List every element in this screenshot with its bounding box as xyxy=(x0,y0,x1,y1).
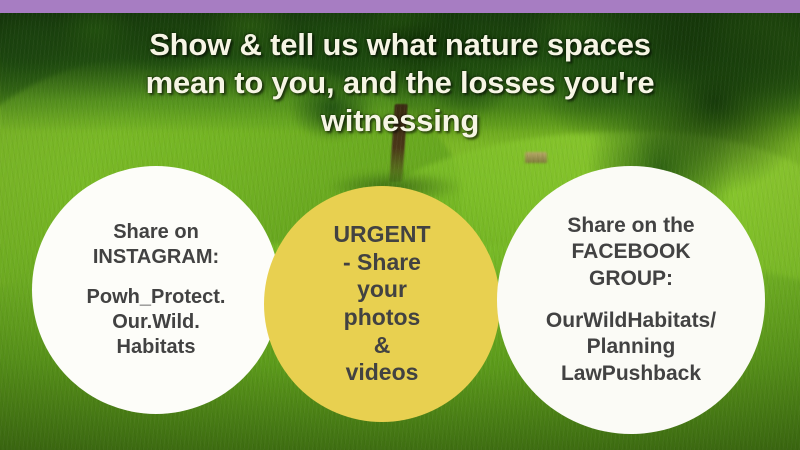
facebook-heading-line-3: GROUP: xyxy=(511,266,751,292)
headline-line-3: witnessing xyxy=(40,102,760,140)
urgent-circle-text: URGENT - Share your photos & videos xyxy=(264,221,500,387)
instagram-circle-text: Share on INSTAGRAM: Powh_Protect. Our.Wi… xyxy=(32,220,280,361)
instagram-handle-line-2: Our.Wild. xyxy=(46,310,266,335)
instagram-handle-line-1: Powh_Protect. xyxy=(46,285,266,310)
urgent-line-5: & xyxy=(282,332,482,360)
instagram-heading-line-1: Share on xyxy=(46,220,266,245)
urgent-line-6: videos xyxy=(282,359,482,387)
facebook-heading-line-1: Share on the xyxy=(511,213,751,239)
urgent-line-1: URGENT xyxy=(282,221,482,249)
facebook-spacer xyxy=(511,292,751,308)
headline: Show & tell us what nature spaces mean t… xyxy=(40,26,760,139)
facebook-group-line-2: Planning xyxy=(511,334,751,360)
urgent-line-2: - Share xyxy=(282,249,482,277)
facebook-circle-text: Share on the FACEBOOK GROUP: OurWildHabi… xyxy=(497,213,765,387)
urgent-line-3: your xyxy=(282,276,482,304)
instagram-spacer xyxy=(46,270,266,285)
instagram-handle-line-3: Habitats xyxy=(46,335,266,360)
urgent-circle: URGENT - Share your photos & videos xyxy=(264,186,500,422)
instagram-heading-line-2: INSTAGRAM: xyxy=(46,245,266,270)
headline-line-2: mean to you, and the losses you're xyxy=(40,64,760,102)
facebook-group-line-3: LawPushback xyxy=(511,361,751,387)
headline-line-1: Show & tell us what nature spaces xyxy=(40,26,760,64)
top-purple-band xyxy=(0,0,800,13)
instagram-circle: Share on INSTAGRAM: Powh_Protect. Our.Wi… xyxy=(32,166,280,414)
poster-canvas: Show & tell us what nature spaces mean t… xyxy=(0,0,800,450)
facebook-heading-line-2: FACEBOOK xyxy=(511,239,751,265)
urgent-line-4: photos xyxy=(282,304,482,332)
facebook-group-line-1: OurWildHabitats/ xyxy=(511,308,751,334)
facebook-circle: Share on the FACEBOOK GROUP: OurWildHabi… xyxy=(497,166,765,434)
